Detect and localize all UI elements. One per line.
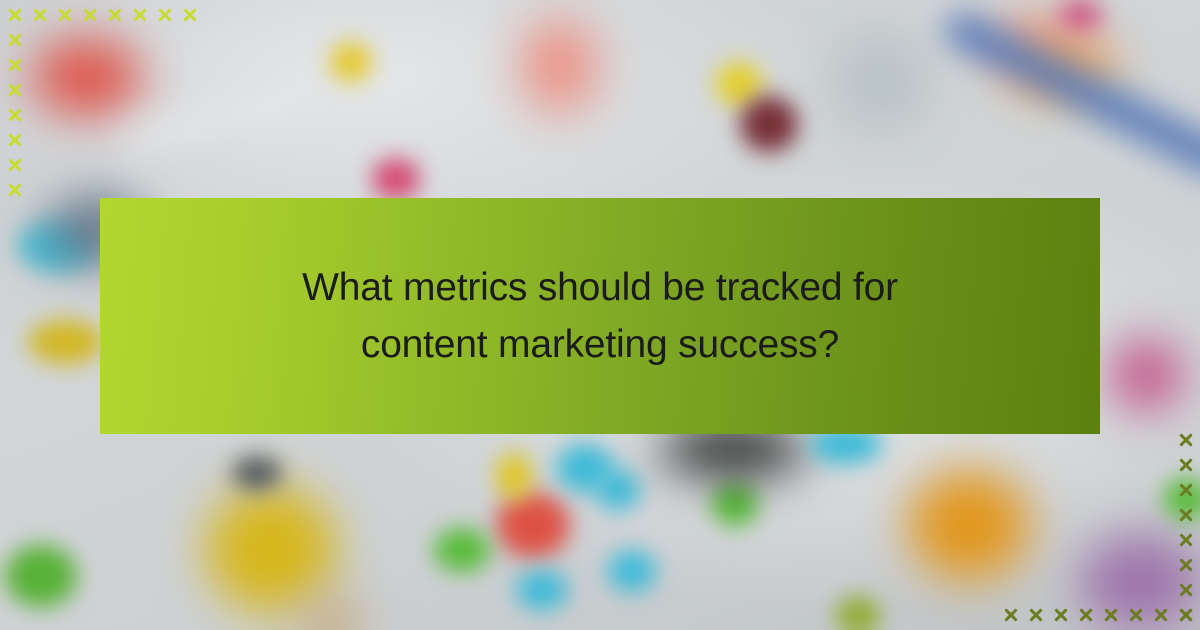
x-mark-icon [102, 2, 127, 27]
x-mark-icon [1173, 552, 1198, 577]
x-mark-icon [2, 77, 27, 102]
x-mark-icon [2, 2, 27, 27]
decoration-x-left-column [2, 2, 27, 202]
decoration-x-bottom-row [998, 602, 1198, 627]
x-mark-icon [77, 2, 102, 27]
x-mark-icon [2, 152, 27, 177]
decoration-x-top-row [2, 2, 202, 27]
x-mark-icon [1123, 602, 1148, 627]
x-mark-icon [1148, 602, 1173, 627]
x-mark-icon [1048, 602, 1073, 627]
x-mark-icon [2, 27, 27, 52]
x-mark-icon [1173, 577, 1198, 602]
x-mark-icon [1173, 602, 1198, 627]
x-mark-icon [1023, 602, 1048, 627]
x-mark-icon [2, 52, 27, 77]
x-mark-icon [1173, 527, 1198, 552]
x-mark-icon [2, 102, 27, 127]
page-title: What metrics should be tracked for conte… [220, 259, 980, 373]
x-mark-icon [998, 602, 1023, 627]
x-mark-icon [1073, 602, 1098, 627]
x-mark-icon [1173, 477, 1198, 502]
decoration-x-right-column [1173, 427, 1198, 627]
x-mark-icon [2, 177, 27, 202]
x-mark-icon [1098, 602, 1123, 627]
x-mark-icon [177, 2, 202, 27]
poster-canvas: What metrics should be tracked for conte… [0, 0, 1200, 630]
x-mark-icon [127, 2, 152, 27]
title-banner: What metrics should be tracked for conte… [100, 198, 1100, 434]
x-mark-icon [1173, 452, 1198, 477]
x-mark-icon [27, 2, 52, 27]
x-mark-icon [2, 127, 27, 152]
x-mark-icon [1173, 502, 1198, 527]
x-mark-icon [152, 2, 177, 27]
x-mark-icon [52, 2, 77, 27]
x-mark-icon [1173, 427, 1198, 452]
